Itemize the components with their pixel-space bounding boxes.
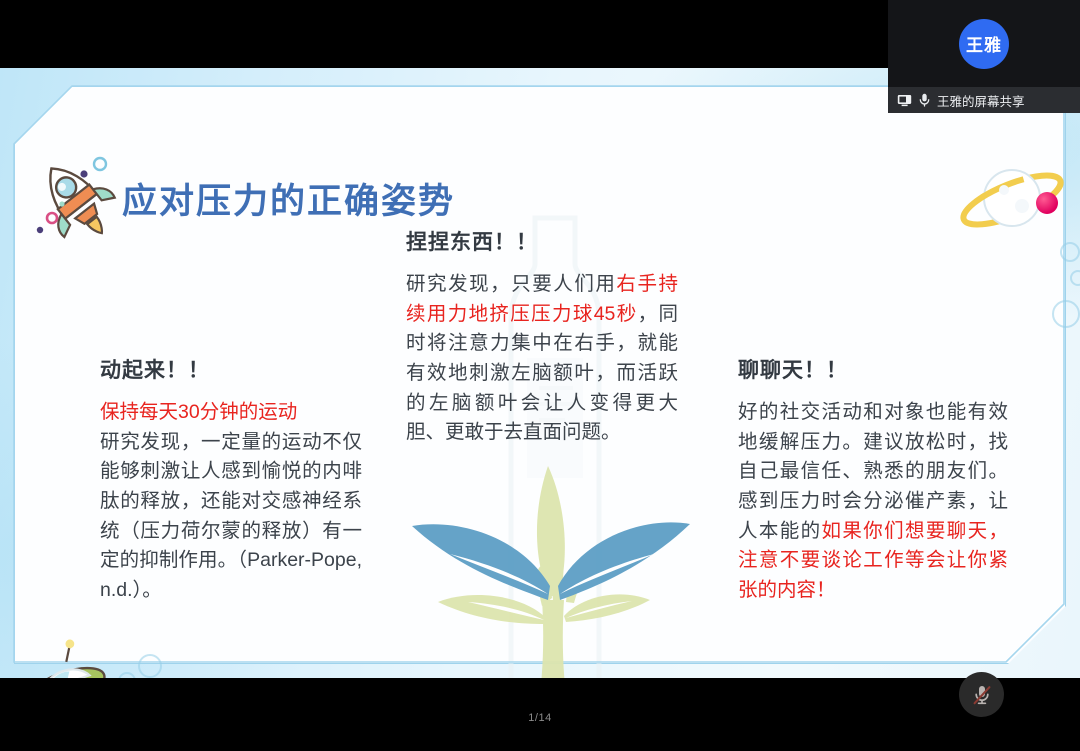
- column-heading: 聊聊天！！: [738, 354, 1008, 384]
- pip-label-text: 王雅的屏幕共享: [937, 91, 1025, 110]
- pip-video-area: 王雅: [888, 0, 1080, 87]
- avatar: 王雅: [959, 19, 1009, 69]
- column-lead-highlight: 保持每天30分钟的运动: [100, 398, 362, 428]
- screen-share-pip[interactable]: 王雅 王雅的屏幕共享: [888, 0, 1080, 113]
- slide-title: 应对压力的正确姿势: [122, 173, 455, 224]
- bubble-decoration: [118, 672, 136, 678]
- column-body: 研究发现，只要人们用右手持续用力地挤压压力球45秒，同时将注意力集中在右手，就能…: [406, 270, 678, 448]
- microphone-mute-button[interactable]: [959, 672, 1004, 717]
- microphone-icon: [919, 93, 930, 107]
- column-body: 好的社交活动和对象也能有效地缓解压力。建议放松时，找自己最信任、熟悉的朋友们。感…: [738, 398, 1008, 605]
- column-body-pre: 研究发现，只要人们用: [406, 273, 616, 295]
- slide-canvas: 应对压力的正确姿势 动起来！！ 保持每天30分钟的运动 研究发现，一定量的运动不…: [0, 68, 1080, 678]
- page-indicator: 1/14: [0, 712, 1080, 724]
- bubble-decoration: [1060, 242, 1080, 262]
- bubble-decoration: [1052, 300, 1080, 328]
- bubble-decoration: [138, 654, 162, 678]
- slide-column-move: 动起来！！ 保持每天30分钟的运动 研究发现，一定量的运动不仅能够刺激让人感到愉…: [100, 354, 362, 605]
- bubble-decoration: [1070, 270, 1080, 286]
- column-body: 研究发现，一定量的运动不仅能够刺激让人感到愉悦的内啡肽的释放，还能对交感神经系统…: [100, 428, 362, 606]
- presentation-stage: 应对压力的正确姿势 动起来！！ 保持每天30分钟的运动 研究发现，一定量的运动不…: [0, 0, 1080, 751]
- column-heading: 捏捏东西！！: [406, 226, 678, 256]
- slide-column-chat: 聊聊天！！ 好的社交活动和对象也能有效地缓解压力。建议放松时，找自己最信任、熟悉…: [738, 354, 1008, 605]
- column-heading: 动起来！！: [100, 354, 362, 384]
- pip-label-bar: 王雅的屏幕共享: [888, 87, 1080, 113]
- screen-share-icon: [897, 94, 912, 107]
- slide-column-squeeze: 捏捏东西！！ 研究发现，只要人们用右手持续用力地挤压压力球45秒，同时将注意力集…: [406, 226, 678, 448]
- microphone-muted-icon: [970, 683, 994, 707]
